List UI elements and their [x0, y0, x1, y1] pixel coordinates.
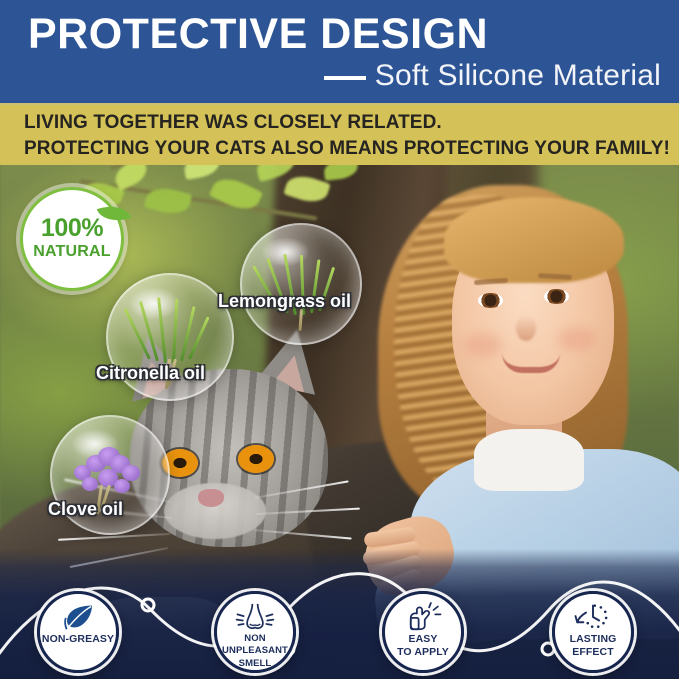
cat-eye-right [238, 445, 274, 473]
girl-eye-right [544, 289, 569, 304]
feature-badge-label-line2: UNPLEASANT [222, 646, 288, 656]
tagline-line-1: LIVING TOGETHER WAS CLOSELY RELATED. [24, 112, 442, 134]
feature-badge-label-line2: TO APPLY [397, 647, 449, 658]
natural-label: NATURAL [33, 243, 111, 261]
feature-badge-label-line2: EFFECT [572, 647, 613, 658]
ingredient-bubble-lemongrass [240, 223, 362, 345]
header-subtitle: Soft Silicone Material [375, 61, 661, 91]
page-title: PROTECTIVE DESIGN [28, 13, 488, 56]
ingredient-label-lemongrass: Lemongrass oil [218, 291, 351, 312]
cat-nose [198, 489, 224, 507]
ingredient-label-citronella: Citronella oil [96, 363, 205, 384]
natural-badge: 100% NATURAL [20, 187, 124, 291]
clock-icon [572, 602, 614, 632]
girl-nose [516, 315, 536, 341]
feature-badge-label: NON [244, 634, 265, 644]
leaf-icon [57, 602, 99, 632]
hand-snap-icon [402, 602, 444, 632]
header-banner: PROTECTIVE DESIGN Soft Silicone Material [0, 0, 679, 103]
nose-icon [234, 602, 276, 632]
ingredient-label-clove: Clove oil [48, 499, 123, 520]
girl-cheek-left [464, 333, 502, 357]
feature-badge-easy-to-apply[interactable]: EASY TO APPLY [382, 591, 464, 673]
girl-fringe [444, 197, 624, 283]
tagline-line-2: PROTECTING YOUR CATS ALSO MEANS PROTECTI… [24, 138, 670, 160]
feature-badge-label: NON-GREASY [42, 634, 114, 645]
feature-badge-label-line3: SMELL [239, 659, 272, 669]
girl-eye-left [478, 293, 503, 308]
product-marketing-poster: PROTECTIVE DESIGN Soft Silicone Material… [0, 0, 679, 679]
girl-cheek-right [558, 327, 596, 351]
feature-badge-lasting-effect[interactable]: LASTING EFFECT [552, 591, 634, 673]
header-subtitle-group: Soft Silicone Material [324, 61, 661, 91]
feature-footer: NON-GREASY NON UNPLEASANT SMELL [0, 549, 679, 679]
em-dash-icon [324, 76, 366, 80]
tagline-band: LIVING TOGETHER WAS CLOSELY RELATED. PRO… [0, 103, 679, 165]
natural-percent: 100% [41, 216, 103, 241]
feature-badge-label: EASY [409, 634, 438, 645]
feature-badge-non-greasy[interactable]: NON-GREASY [37, 591, 119, 673]
feature-badge-non-unpleasant-smell[interactable]: NON UNPLEASANT SMELL [214, 591, 296, 673]
girl-collar [474, 429, 584, 491]
feature-badge-label: LASTING [570, 634, 617, 645]
bubble-highlight [128, 287, 180, 319]
